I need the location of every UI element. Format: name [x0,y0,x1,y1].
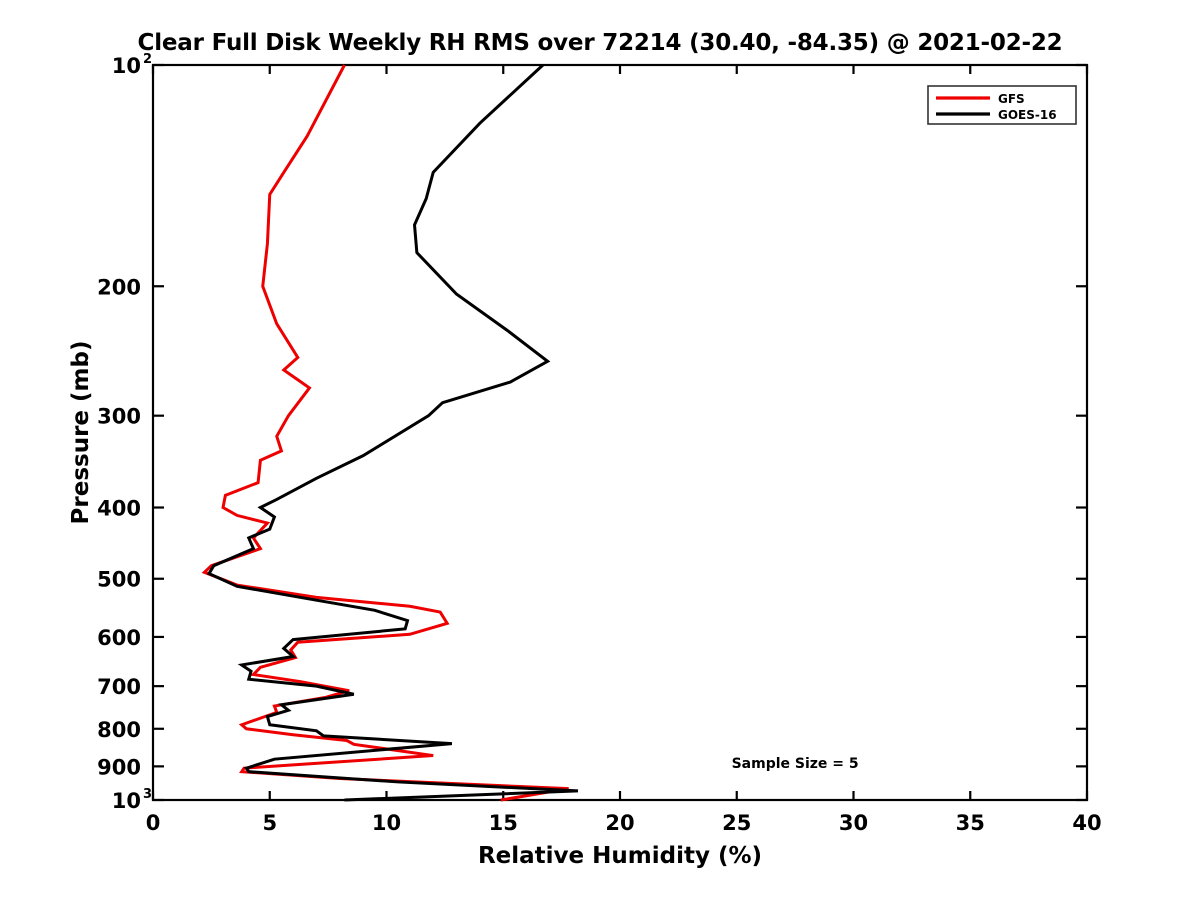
legend-label-gfs: GFS [998,92,1025,106]
plot-frame [153,65,1087,800]
chart-legend: GFSGOES-16 [928,86,1076,124]
y-axis-tick-label: 700 [97,675,141,699]
x-axis-tick-label: 35 [956,811,985,835]
x-axis-tick-label: 40 [1072,811,1101,835]
figure-canvas: Clear Full Disk Weekly RH RMS over 72214… [0,0,1200,900]
y-axis-title: Pressure (mb) [68,341,94,525]
x-axis-tick-label: 0 [146,811,161,835]
x-axis-tick-label: 5 [262,811,277,835]
y-axis-tick-label: 300 [97,405,141,429]
y-axis-tick-label: 600 [97,626,141,650]
x-axis-tick-label: 30 [839,811,868,835]
series-line-gfs [204,65,568,800]
x-axis-tick-label: 15 [489,811,518,835]
axes-group: 0510152025303540102200300400500600700800… [68,52,1102,869]
chart-plot-area: 0510152025303540102200300400500600700800… [0,0,1200,900]
y-axis-tick-label: 500 [97,568,141,592]
data-series-group [204,65,578,800]
annotations-group: Sample Size = 5 [732,756,859,772]
x-axis-tick-label: 10 [372,811,401,835]
y-axis-tick-exponent: 3 [143,787,152,802]
y-axis-tick-label: 800 [97,718,141,742]
y-axis-tick-exponent: 2 [143,52,152,67]
y-axis-tick-label: 400 [97,497,141,521]
x-axis-tick-label: 20 [605,811,634,835]
y-axis-tick-label: 900 [97,755,141,779]
legend-label-goes-16: GOES-16 [998,108,1057,122]
y-axis-tick-label: 10 [112,789,141,813]
x-axis-title: Relative Humidity (%) [478,843,762,869]
x-axis-tick-label: 25 [722,811,751,835]
y-axis-tick-label: 200 [97,275,141,299]
sample-size-annotation: Sample Size = 5 [732,756,859,772]
y-axis-tick-label: 10 [112,54,141,78]
series-line-goes-16 [209,65,578,800]
